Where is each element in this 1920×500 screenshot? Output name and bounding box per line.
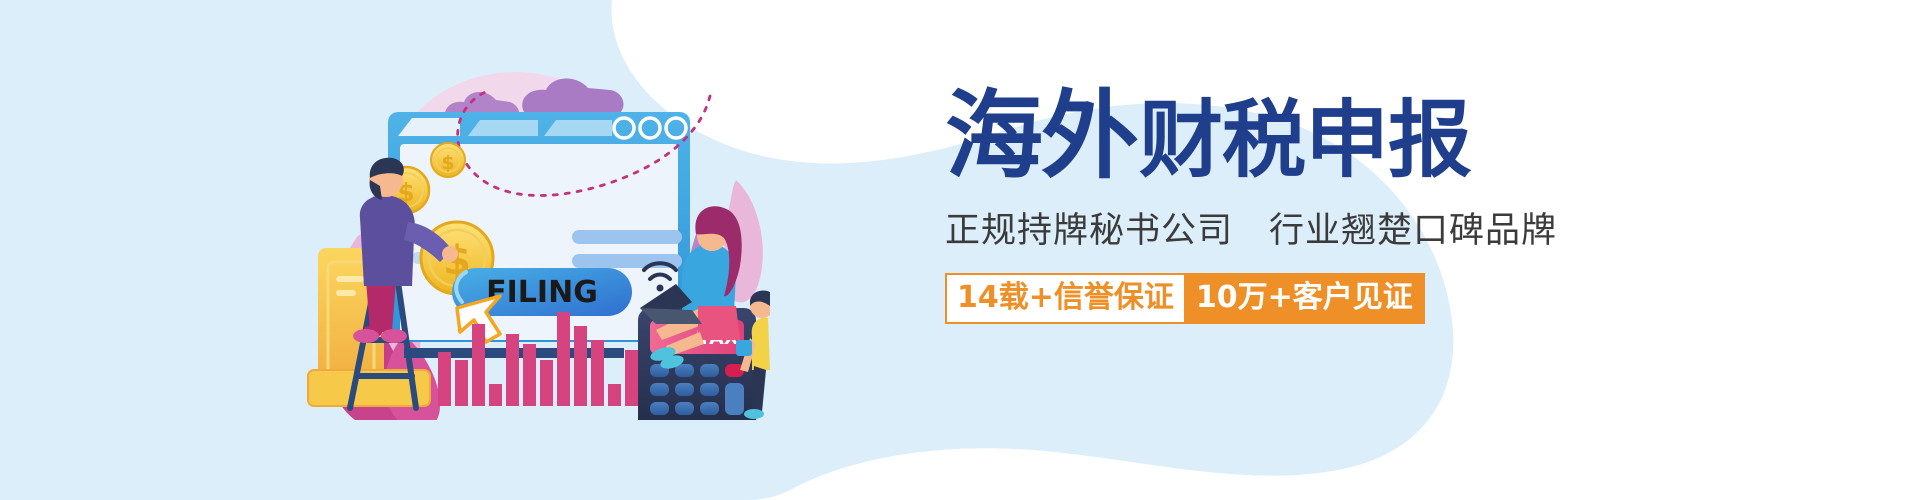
headline: 海外 财税申报 xyxy=(945,88,1585,184)
badge-customers: 10万+客户见证 xyxy=(1184,273,1425,324)
svg-text:$: $ xyxy=(441,152,454,174)
badge-row: 14载+信誉保证 10万+客户见证 xyxy=(945,273,1585,324)
headline-part1: 海外 xyxy=(945,88,1137,184)
banner-text-block: 海外 财税申报 正规持牌秘书公司 行业翘楚口碑品牌 14载+信誉保证 10万+客… xyxy=(945,88,1585,324)
headline-part2: 财税申报 xyxy=(1139,98,1471,182)
coin-small: $ xyxy=(431,143,465,177)
filing-button-label: FILING xyxy=(486,275,598,310)
tax-filing-illustration: $ $ $ xyxy=(300,40,770,420)
badge-credibility: 14载+信誉保证 xyxy=(945,273,1184,324)
promo-banner: $ $ $ xyxy=(0,0,1920,500)
subtitle: 正规持牌秘书公司 行业翘楚口碑品牌 xyxy=(945,202,1585,253)
